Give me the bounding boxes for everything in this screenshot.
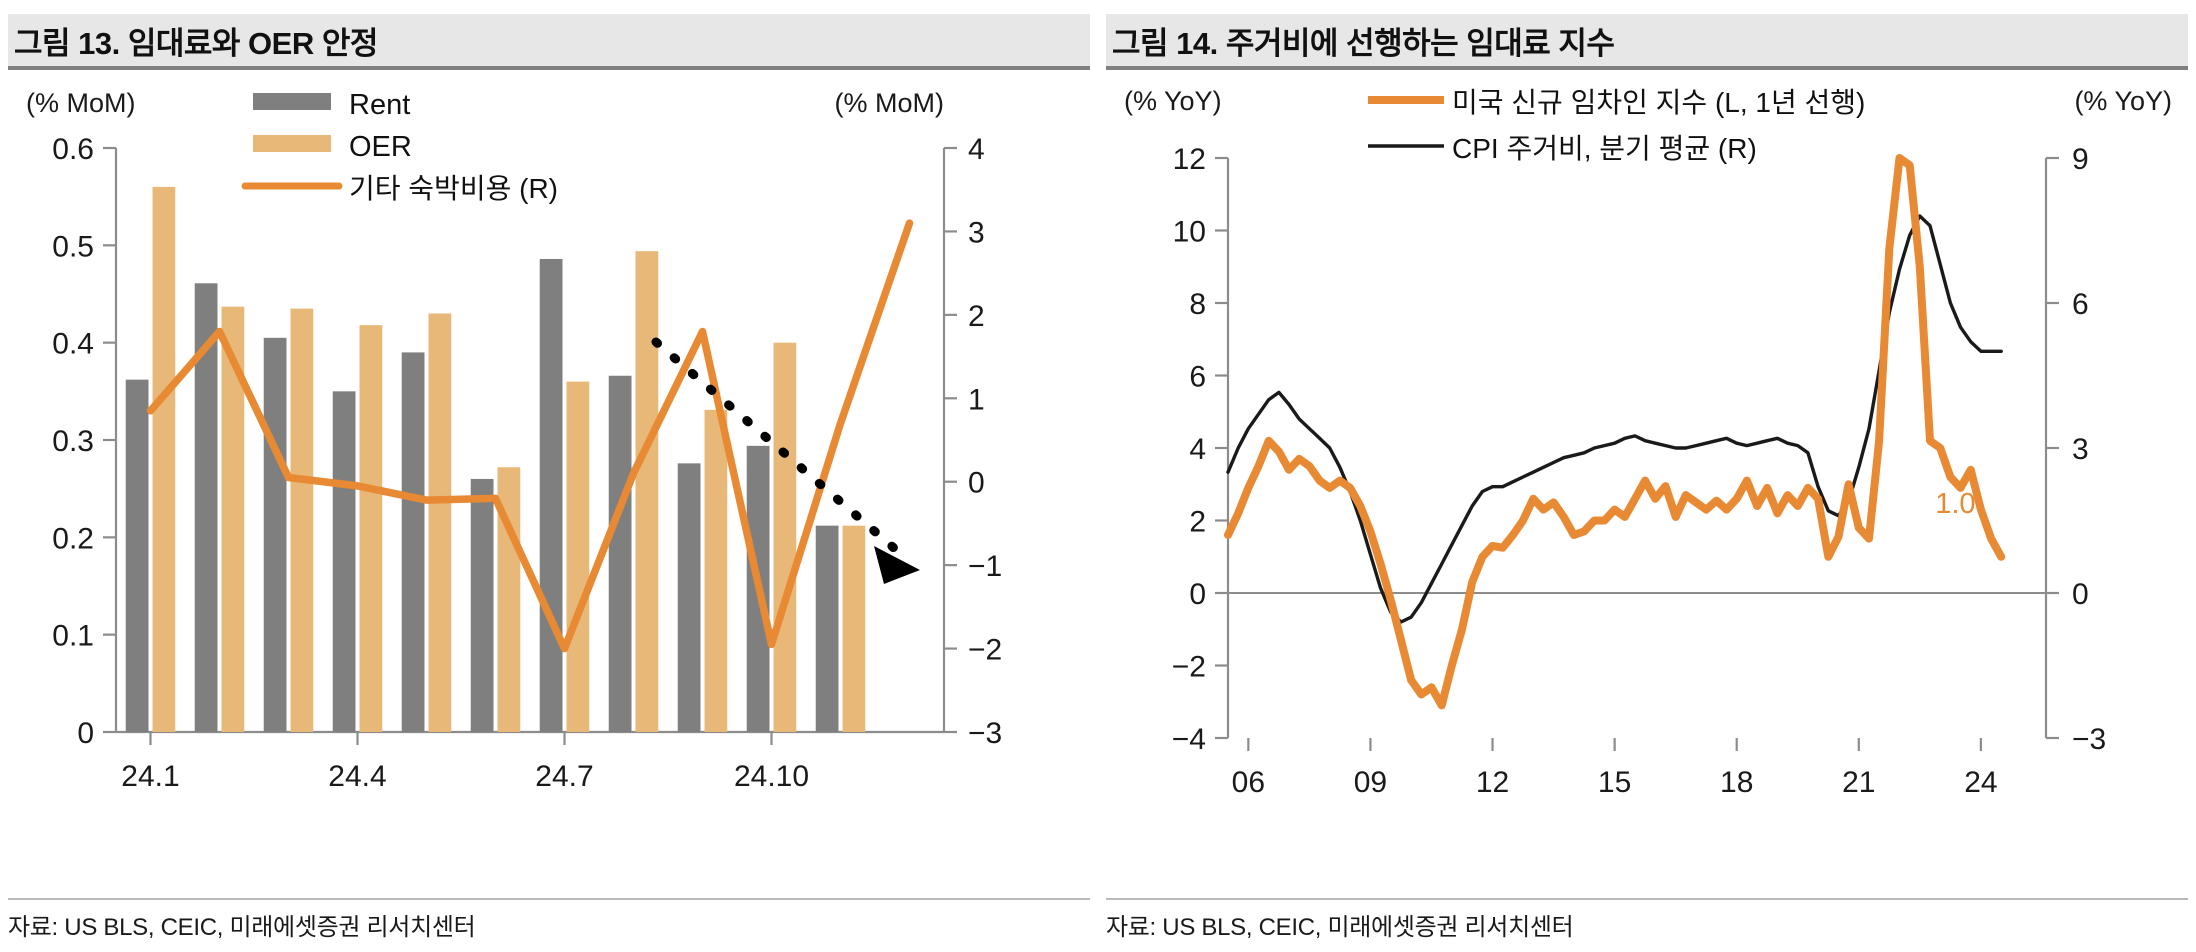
figure-13-left-unit: (% MoM)	[26, 88, 136, 118]
figure-14-ytick-4: 4	[1189, 433, 1206, 466]
bar-oer-6	[567, 382, 590, 732]
figure-13-bars	[126, 187, 866, 732]
figure-14-ytick-3: 2	[1189, 506, 1206, 539]
figure-14-source: 자료: US BLS, CEIC, 미래에셋증권 리서치센터	[1106, 907, 2188, 942]
figure-13-xtick-3: 24.10	[734, 760, 809, 793]
legend-label-1: CPI 주거비, 분기 평균 (R)	[1452, 133, 1757, 164]
figure-13-y2tick-4: 1	[968, 383, 985, 416]
figure-13-xtick-1: 24.4	[328, 760, 386, 793]
figure-14-ytick-8: 12	[1173, 143, 1206, 176]
figure-13-y2tick-5: 2	[968, 300, 985, 333]
legend-label-1: OER	[349, 131, 412, 163]
figure-14-ytick-7: 10	[1173, 216, 1206, 249]
bar-rent-7	[609, 376, 632, 732]
figure-14-xtick-0: 06	[1232, 766, 1265, 799]
figure-14-title-bar: 그림 14. 주거비에 선행하는 임대료 지수	[1106, 14, 2188, 70]
figure-14-xtick-4: 18	[1720, 766, 1753, 799]
figure-13-chart: (% MoM)(% MoM)RentOER기타 숙박비용 (R)00.10.20…	[8, 70, 1090, 810]
figure-14-source-wrap: 자료: US BLS, CEIC, 미래에셋증권 리서치센터	[1106, 898, 2188, 942]
figure-14-right-unit: (% YoY)	[2074, 86, 2172, 116]
legend-swatch-0	[253, 93, 331, 110]
figure-13-ytick-5: 0.5	[52, 230, 94, 263]
figure-14-xtick-1: 09	[1354, 766, 1387, 799]
figure-14-panel: 그림 14. 주거비에 선행하는 임대료 지수 (% YoY)(% YoY)미국…	[1098, 0, 2196, 952]
bar-rent-4	[402, 352, 425, 732]
figure-14-left-unit: (% YoY)	[1124, 86, 1222, 116]
figure-13-xtick-0: 24.1	[121, 760, 179, 793]
bar-rent-8	[678, 463, 701, 732]
figure-14-y2tick-0: −3	[2072, 723, 2106, 756]
figure-13-ytick-0: 0	[77, 717, 94, 750]
bar-oer-7	[636, 251, 659, 732]
figure-13-y2tick-1: −2	[968, 634, 1002, 667]
legend-label-2: 기타 숙박비용 (R)	[349, 173, 558, 204]
figure-14-xtick-6: 24	[1964, 766, 1997, 799]
figure-14-xtick-5: 21	[1842, 766, 1875, 799]
figure-13-ytick-1: 0.1	[52, 620, 94, 653]
figure-13-panel: 그림 13. 임대료와 OER 안정 (% MoM)(% MoM)RentOER…	[0, 0, 1098, 952]
bar-rent-0	[126, 380, 149, 732]
figure-14-chart: (% YoY)(% YoY)미국 신규 임차인 지수 (L, 1년 선행)CPI…	[1106, 70, 2188, 810]
figure-13-y2tick-6: 3	[968, 216, 985, 249]
figure-14-end-value-label: 1.0	[1935, 488, 1975, 520]
figure-13-ytick-4: 0.4	[52, 328, 94, 361]
bar-rent-2	[264, 338, 287, 732]
bar-oer-9	[774, 343, 797, 732]
figure-13-y2tick-3: 0	[968, 467, 985, 500]
figure-14-ytick-1: −2	[1172, 651, 1206, 684]
bar-oer-8	[705, 410, 728, 732]
bar-rent-5	[471, 479, 494, 732]
figure-14-legend: 미국 신규 임차인 지수 (L, 1년 선행)CPI 주거비, 분기 평균 (R…	[1368, 87, 1865, 164]
figure-13-source-wrap: 자료: US BLS, CEIC, 미래에셋증권 리서치센터	[8, 898, 1090, 942]
figure-14-title: 그림 14. 주거비에 선행하는 임대료 지수	[1106, 18, 1614, 63]
figure-14-ytick-2: 0	[1189, 578, 1206, 611]
trend-arrow-head	[874, 546, 920, 584]
bar-rent-10	[816, 526, 839, 732]
figure-14-xtick-3: 15	[1598, 766, 1631, 799]
figure-13-ytick-3: 0.3	[52, 425, 94, 458]
figure-14-ytick-5: 6	[1189, 361, 1206, 394]
legend-label-0: 미국 신규 임차인 지수 (L, 1년 선행)	[1452, 87, 1865, 118]
figure-13-y2tick-7: 4	[968, 133, 985, 166]
figure-13-y2tick-2: −1	[968, 550, 1002, 583]
figure-14-y2tick-4: 9	[2072, 143, 2089, 176]
figure-13-y2tick-0: −3	[968, 717, 1002, 750]
figure-14-y2tick-2: 3	[2072, 433, 2089, 466]
bar-oer-0	[153, 187, 176, 732]
figure-13-ytick-2: 0.2	[52, 522, 94, 555]
bar-oer-3	[360, 325, 383, 732]
legend-swatch-1	[253, 135, 331, 152]
figure-13-source: 자료: US BLS, CEIC, 미래에셋증권 리서치센터	[8, 907, 1090, 942]
figure-14-ytick-6: 8	[1189, 288, 1206, 321]
bar-oer-2	[291, 309, 314, 732]
figure-13-legend: RentOER기타 숙박비용 (R)	[245, 89, 558, 204]
figure-14-series-new-tenant-index	[1228, 158, 2001, 705]
figure-14-svg: (% YoY)(% YoY)미국 신규 임차인 지수 (L, 1년 선행)CPI…	[1106, 70, 2188, 810]
bar-oer-10	[843, 526, 866, 732]
figure-14-xtick-2: 12	[1476, 766, 1509, 799]
figure-13-svg: (% MoM)(% MoM)RentOER기타 숙박비용 (R)00.10.20…	[8, 70, 1090, 810]
figure-14-y2tick-1: 0	[2072, 578, 2089, 611]
figure-13-title-bar: 그림 13. 임대료와 OER 안정	[8, 14, 1090, 70]
figure-14-y2tick-3: 6	[2072, 288, 2089, 321]
bar-rent-6	[540, 259, 563, 732]
figure-13-right-unit: (% MoM)	[835, 88, 945, 118]
figure-13-ytick-6: 0.6	[52, 133, 94, 166]
bar-rent-3	[333, 391, 356, 732]
figures-page: 그림 13. 임대료와 OER 안정 (% MoM)(% MoM)RentOER…	[0, 0, 2196, 952]
figure-14-ytick-0: −4	[1172, 723, 1206, 756]
figure-13-xtick-2: 24.7	[535, 760, 593, 793]
figure-13-title: 그림 13. 임대료와 OER 안정	[8, 18, 378, 63]
bar-oer-4	[429, 313, 452, 732]
legend-label-0: Rent	[349, 89, 410, 121]
